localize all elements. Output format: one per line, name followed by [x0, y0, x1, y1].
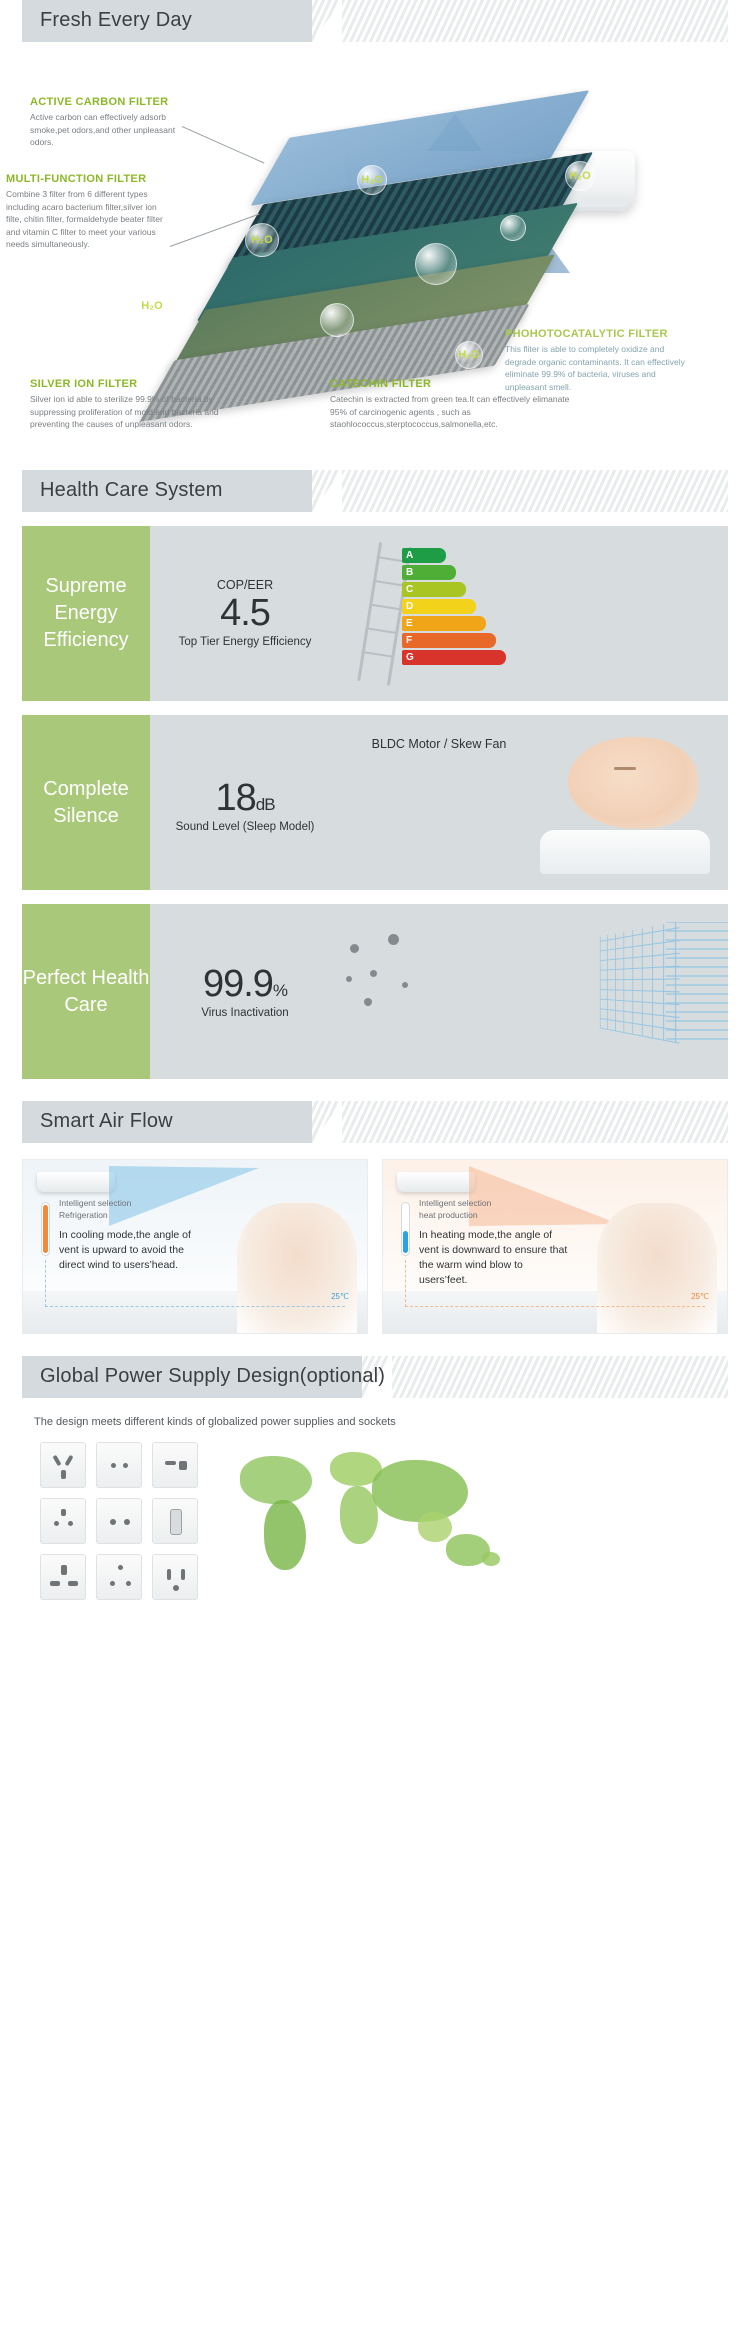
- water-bubble-plain: [500, 215, 526, 241]
- water-bubble: H₂O: [137, 291, 167, 321]
- filter-name: ACTIVE CARBON FILTER: [30, 96, 180, 108]
- health-row-body: BLDC Motor / Skew Fan 18dB Sound Level (…: [150, 715, 728, 890]
- virus-particle: [370, 970, 377, 977]
- virus-particle: [364, 998, 372, 1006]
- metric-unit: %: [273, 981, 287, 1000]
- map-region: [372, 1460, 468, 1522]
- water-bubble: H₂O: [357, 165, 387, 195]
- filter-desc: Active carbon can effectively adsorb smo…: [30, 111, 180, 149]
- bubble-label: H₂O: [251, 234, 272, 246]
- health-row-title: Complete Silence: [22, 715, 150, 890]
- guide-line-horizontal: [45, 1306, 345, 1307]
- health-row-silence: Complete Silence BLDC Motor / Skew Fan 1…: [22, 715, 728, 890]
- socket-type-d: [96, 1554, 142, 1600]
- metric-caption-bottom: Virus Inactivation: [150, 1006, 340, 1021]
- energy-grade-bar: G: [402, 650, 506, 665]
- water-bubble: H₂O: [455, 341, 483, 369]
- map-region: [240, 1456, 312, 1504]
- socket-grid: [40, 1442, 198, 1600]
- guide-line-horizontal: [405, 1306, 705, 1307]
- metric-caption-top: COP/EER: [150, 578, 340, 592]
- health-row-title: Perfect Health Care: [22, 904, 150, 1079]
- mode-line-1: Intelligent selection: [419, 1198, 569, 1210]
- power-subtitle: The design meets different kinds of glob…: [34, 1416, 728, 1428]
- filter-desc: Silver ion id able to sterilize 99.9% of…: [30, 393, 220, 431]
- metric-caption-bottom: Top Tier Energy Efficiency: [150, 635, 340, 650]
- filter-label-active-carbon: ACTIVE CARBON FILTER Active carbon can e…: [30, 96, 180, 149]
- guide-line-vertical: [45, 1260, 46, 1307]
- health-metric: COP/EER 4.5 Top Tier Energy Efficiency: [150, 578, 340, 650]
- thermometer-icon: [401, 1202, 410, 1256]
- bubble-label: H₂O: [569, 170, 590, 182]
- power-body: [22, 1442, 728, 1600]
- airflow-card-heating: 10℃ 25℃ Intelligent selection heat produ…: [382, 1159, 728, 1334]
- airflow-cards: 35℃ 25℃ Intelligent selection Refrigerat…: [22, 1159, 728, 1334]
- virus-particle: [350, 944, 359, 953]
- metric-value: 4.5: [150, 592, 340, 635]
- temp-low-label: 25℃: [691, 1292, 709, 1301]
- filter-desc: Catechin is extracted from green tea.It …: [330, 393, 580, 431]
- metric-value: 18dB: [150, 777, 340, 820]
- health-row-energy: Supreme Energy Efficiency COP/EER 4.5 To…: [22, 526, 728, 701]
- sleeping-baby-art: [340, 715, 728, 890]
- socket-type-switch: [152, 1498, 198, 1544]
- banner-health-care-system: Health Care System: [22, 470, 728, 512]
- socket-type-i: [40, 1442, 86, 1488]
- map-region: [482, 1552, 500, 1566]
- filter-name: CATECHIN FILTER: [330, 378, 580, 390]
- water-bubble-plain: [415, 243, 457, 285]
- world-map-graphic: [222, 1442, 728, 1592]
- health-row-title: Supreme Energy Efficiency: [22, 526, 150, 701]
- banner-hatch: [312, 470, 728, 512]
- health-row-body: COP/EER 4.5 Top Tier Energy Efficiency A: [150, 526, 728, 701]
- mode-line-2: Refrigeration: [59, 1210, 209, 1222]
- virus-particle: [346, 976, 352, 982]
- temp-low-label: 25℃: [331, 1292, 349, 1301]
- socket-type-f: [96, 1498, 142, 1544]
- person-figure: [597, 1203, 717, 1333]
- banner-hatch: [362, 1356, 728, 1398]
- filters-diagram: H₂O H₂O H₂O H₂O H₂O ACTIVE CARBON FILTER…: [0, 48, 750, 448]
- metric-unit: dB: [256, 795, 275, 814]
- mode-description: In cooling mode,the angle of vent is upw…: [59, 1228, 209, 1273]
- filter-label-silver-ion: SILVER ION FILTER Silver ion id able to …: [30, 378, 220, 431]
- socket-type-b: [152, 1554, 198, 1600]
- water-bubble: H₂O: [565, 161, 595, 191]
- health-metric: BLDC Motor / Skew Fan 18dB Sound Level (…: [150, 777, 340, 835]
- energy-grade-bar: F: [402, 633, 496, 648]
- water-bubble: H₂O: [245, 223, 279, 257]
- airflow-caption: Intelligent selection heat production In…: [419, 1198, 569, 1288]
- map-region: [418, 1512, 452, 1542]
- metric-value: 99.9%: [150, 963, 340, 1006]
- health-metric: 99.9% Virus Inactivation: [150, 963, 340, 1021]
- page-title-health: Health Care System: [40, 479, 223, 502]
- socket-type-c: [96, 1442, 142, 1488]
- energy-grade-bar: B: [402, 565, 456, 580]
- air-conditioner-unit: [37, 1172, 115, 1192]
- filter-label-catechin: CATECHIN FILTER Catechin is extracted fr…: [330, 378, 580, 431]
- virus-particle: [402, 982, 408, 988]
- bubble-label: H₂O: [361, 174, 382, 186]
- filter-name: PHOHOTOCATALYTIC FILTER: [505, 328, 685, 340]
- banner-hatch: [312, 0, 728, 42]
- banner-fresh-every-day: Fresh Every Day: [22, 0, 728, 42]
- air-conditioner-unit: [397, 1172, 475, 1192]
- page-title-airflow: Smart Air Flow: [40, 1110, 173, 1133]
- thermometer-icon: [41, 1202, 50, 1256]
- health-row-body: 99.9% Virus Inactivation: [150, 904, 728, 1079]
- bubble-label: H₂O: [458, 349, 479, 361]
- banner-global-power-supply: Global Power Supply Design(optional): [22, 1356, 728, 1398]
- guide-line-vertical: [405, 1260, 406, 1307]
- map-region: [264, 1500, 306, 1570]
- banner-smart-air-flow: Smart Air Flow: [22, 1101, 728, 1143]
- filter-label-multi-function: MULTI-FUNCTION FILTER Combine 3 filter f…: [6, 173, 166, 251]
- socket-type-usb: [152, 1442, 198, 1488]
- filter-desc: Combine 3 filter from 6 different types …: [6, 188, 166, 251]
- water-bubble-plain: [320, 303, 354, 337]
- page-title-power: Global Power Supply Design(optional): [40, 1365, 385, 1388]
- energy-grade-bar: C: [402, 582, 466, 597]
- socket-type-e: [40, 1498, 86, 1544]
- mode-line-2: heat production: [419, 1210, 569, 1222]
- mode-description: In heating mode,the angle of vent is dow…: [419, 1228, 569, 1288]
- socket-type-g: [40, 1554, 86, 1600]
- health-row-virus: Perfect Health Care 99.9% Virus Inactiva…: [22, 904, 728, 1079]
- power-supply-section: The design meets different kinds of glob…: [22, 1416, 728, 1600]
- virus-particle: [388, 934, 399, 945]
- filter-name: MULTI-FUNCTION FILTER: [6, 173, 166, 185]
- filter-name: SILVER ION FILTER: [30, 378, 220, 390]
- energy-grade-bar: A: [402, 548, 446, 563]
- energy-grade-bar: D: [402, 599, 476, 614]
- virus-inactivation-art: [340, 904, 728, 1079]
- health-care-rows: Supreme Energy Efficiency COP/EER 4.5 To…: [22, 526, 728, 1079]
- airflow-card-cooling: 35℃ 25℃ Intelligent selection Refrigerat…: [22, 1159, 368, 1334]
- mode-line-1: Intelligent selection: [59, 1198, 209, 1210]
- energy-label-art: A B C D E F G: [340, 526, 728, 701]
- bubble-label: H₂O: [141, 300, 162, 312]
- page-title-fresh: Fresh Every Day: [40, 9, 192, 32]
- person-figure: [237, 1203, 357, 1333]
- banner-hatch: [312, 1101, 728, 1143]
- metric-caption-bottom: Sound Level (Sleep Model): [150, 820, 340, 835]
- airflow-caption: Intelligent selection Refrigeration In c…: [59, 1198, 209, 1273]
- energy-grade-bar: E: [402, 616, 486, 631]
